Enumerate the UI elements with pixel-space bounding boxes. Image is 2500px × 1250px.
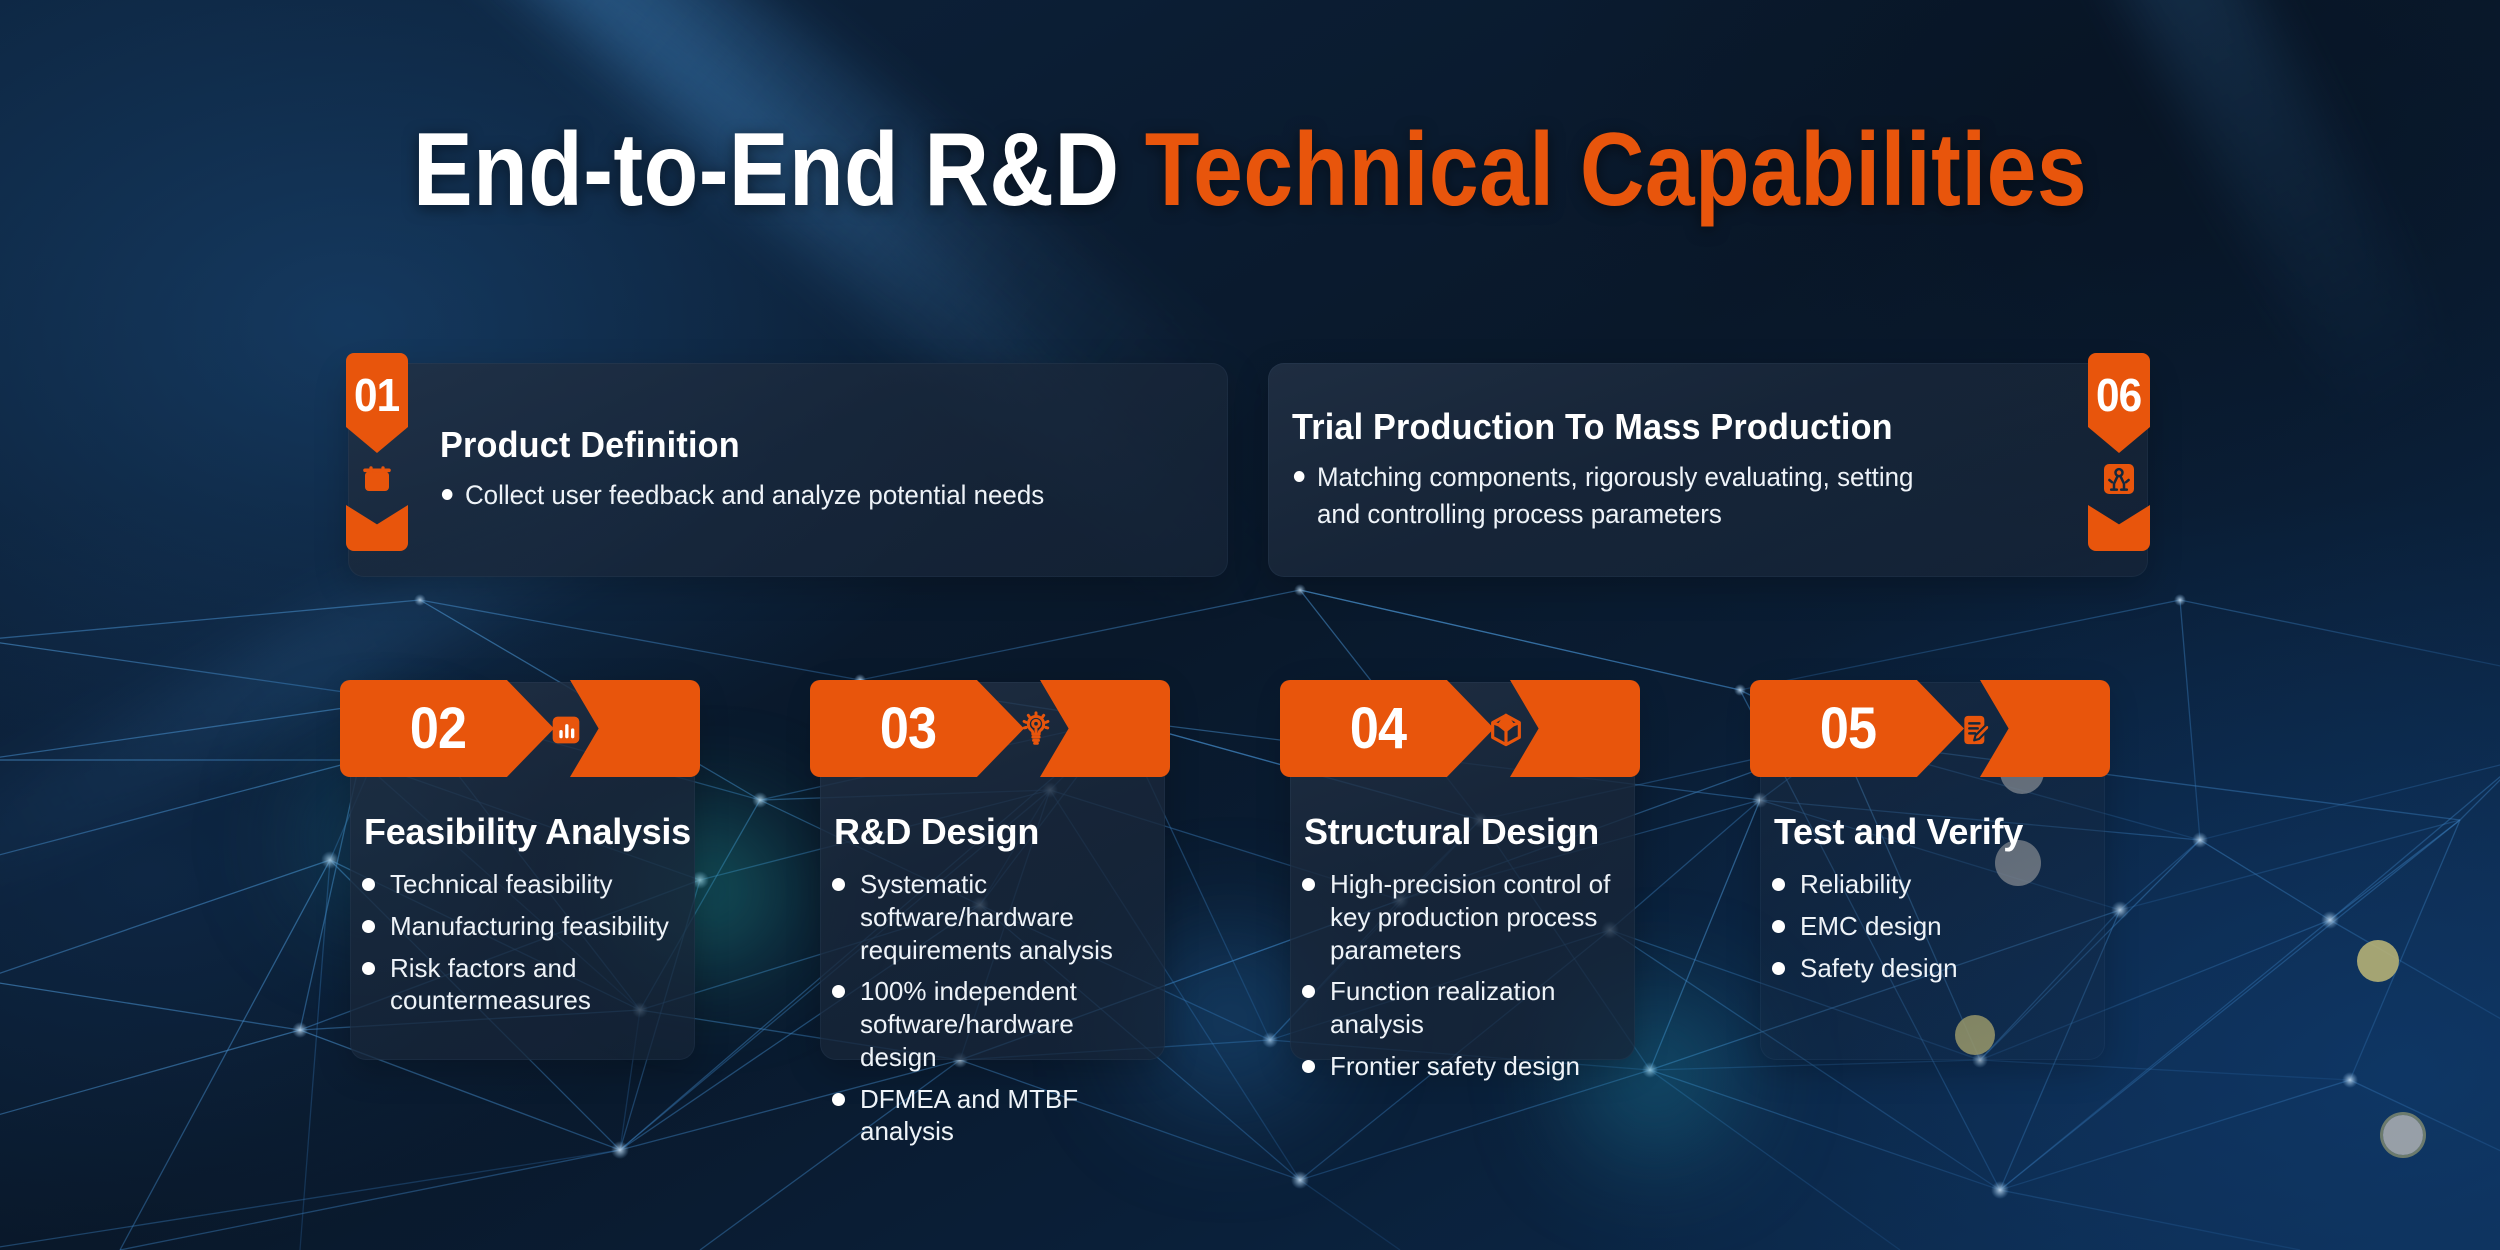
card-title: Structural Design <box>1304 814 1599 850</box>
ribbon-head: 01 <box>346 353 408 453</box>
bullet-item: Manufacturing feasibility <box>362 910 683 943</box>
step-card-04[interactable]: 04 Structural Design High-precision cont… <box>1290 700 1635 1060</box>
step-card-05[interactable]: 05 Test and Verify Reliability EMC desig… <box>1760 700 2105 1060</box>
page-title-orange: Technical Capabilities <box>1145 112 2087 228</box>
bokeh-circle-3 <box>2357 940 2399 982</box>
step-ribbon-01: 01 <box>346 353 408 551</box>
card-body: Trial Production To Mass Production Matc… <box>1292 363 2056 577</box>
page-title: End-to-End R&D Technical Capabilities <box>175 118 2325 222</box>
step-card-01[interactable]: 01 Product Definition Collect user feedb… <box>348 363 1228 577</box>
bullet-item: DFMEA and MTBF analysis <box>832 1083 1153 1149</box>
step-card-02[interactable]: 02 Feasibility Analysis Technical feasib… <box>350 700 695 1060</box>
bullet-item: 100% independent software/hardware desig… <box>832 975 1153 1073</box>
page-title-white: End-to-End R&D <box>413 112 1145 228</box>
bullet-item: Reliability <box>1772 868 2093 901</box>
card-bullet-list: Collect user feedback and analyze potent… <box>440 477 1204 513</box>
bullet-item: Collect user feedback and analyze potent… <box>440 477 1173 513</box>
bullet-item: Frontier safety design <box>1302 1050 1623 1083</box>
bullet-item: Matching components, rigorously evaluati… <box>1292 459 1954 532</box>
bullet-item: Systematic software/hardware requirement… <box>832 868 1153 966</box>
step-card-06[interactable]: 06 Trial Production To Mass Production <box>1268 363 2148 577</box>
ribbon-head: 06 <box>2088 353 2150 453</box>
bullet-item: Safety design <box>1772 952 2093 985</box>
ribbon-foot <box>2088 505 2150 551</box>
card-bullet-list: Reliability EMC design Safety design <box>1772 868 2093 993</box>
robot-arm-icon <box>2088 453 2150 505</box>
card-bullet-list: High-precision control of key production… <box>1302 868 1623 1092</box>
bullet-item: Technical feasibility <box>362 868 683 901</box>
bokeh-circle-5 <box>2383 1115 2423 1155</box>
bullet-item: Function realization analysis <box>1302 975 1623 1041</box>
infographic-slide: End-to-End R&D Technical Capabilities 01… <box>0 0 2500 1250</box>
step-ribbon-06: 06 <box>2088 353 2150 551</box>
card-bullet-list: Technical feasibility Manufacturing feas… <box>362 868 683 1026</box>
card-title: Test and Verify <box>1774 814 2023 850</box>
card-title: Trial Production To Mass Production <box>1292 408 2018 446</box>
bullet-item: High-precision control of key production… <box>1302 868 1623 966</box>
card-title: Feasibility Analysis <box>364 814 691 850</box>
battery-icon <box>346 453 408 505</box>
step-number: 06 <box>2096 372 2141 418</box>
card-body: Product Definition Collect user feedback… <box>440 363 1204 577</box>
step-number: 01 <box>354 372 399 418</box>
bullet-item: EMC design <box>1772 910 2093 943</box>
bullet-item: Risk factors and countermeasures <box>362 952 683 1018</box>
card-title: R&D Design <box>834 814 1039 850</box>
card-bullet-list: Systematic software/hardware requirement… <box>832 868 1153 1157</box>
ribbon-foot <box>346 505 408 551</box>
step-card-03[interactable]: 03 R&D Design Systematic software/hardwa… <box>820 700 1165 1060</box>
card-bullet-list: Matching components, rigorously evaluati… <box>1292 459 2056 532</box>
card-title: Product Definition <box>440 426 1166 464</box>
